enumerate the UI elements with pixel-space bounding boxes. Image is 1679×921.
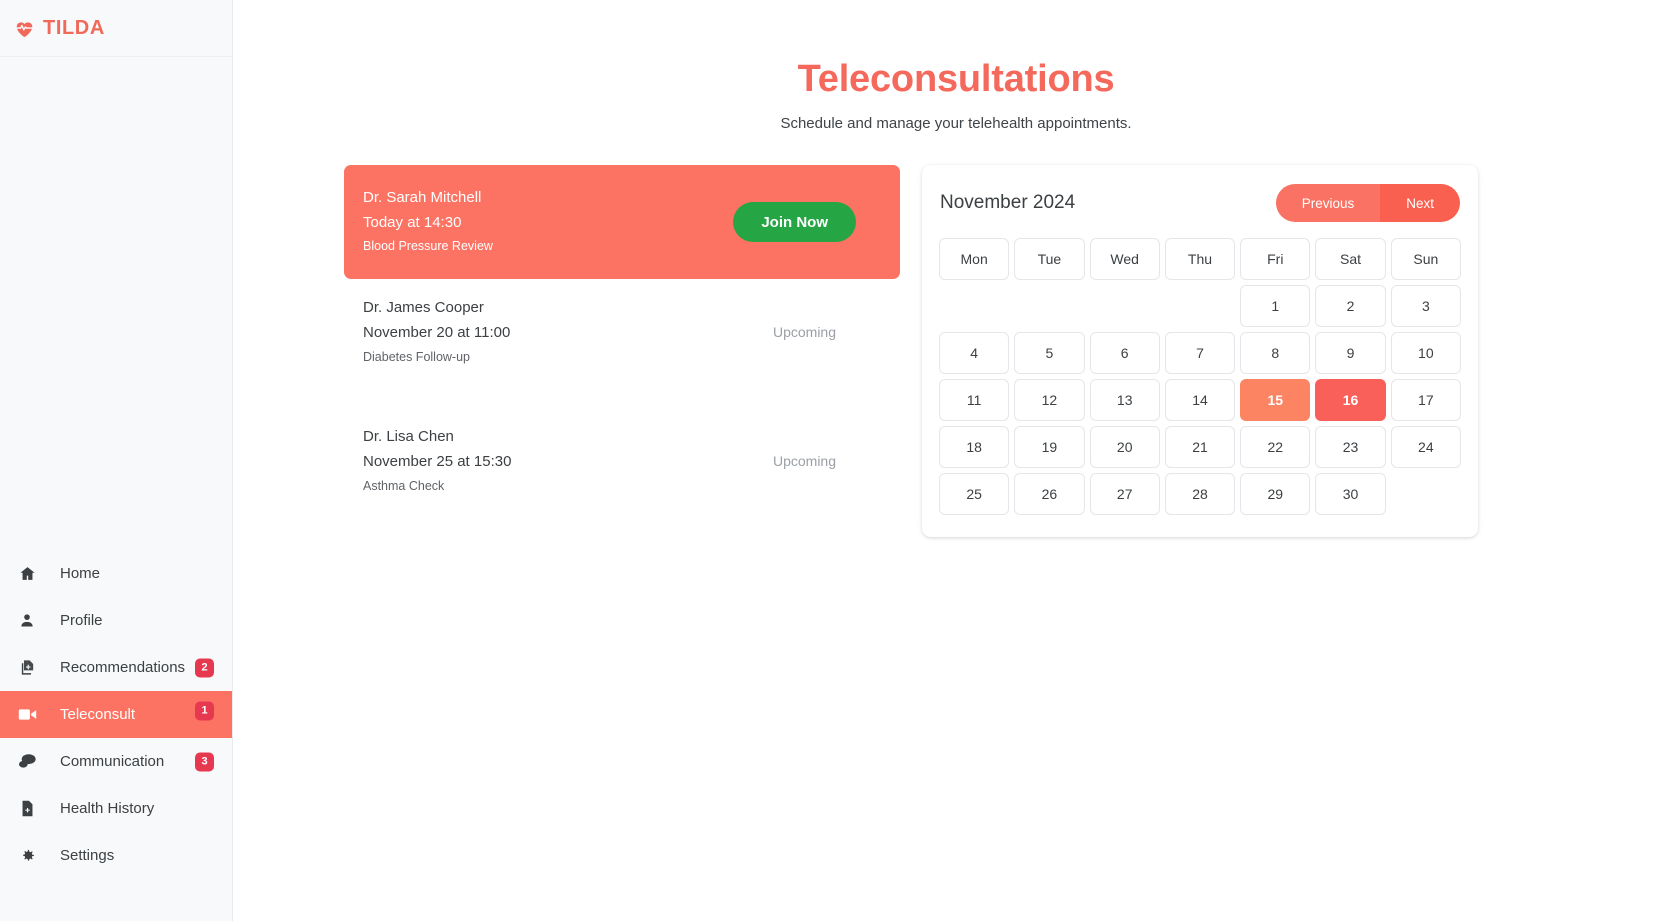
appointment-reason: Blood Pressure Review xyxy=(363,235,493,259)
calendar-card: November 2024 Previous Next MonTueWedThu… xyxy=(922,165,1478,537)
appointment-doctor: Dr. James Cooper xyxy=(363,295,510,320)
sidebar-badge: 1 xyxy=(195,701,214,720)
calendar-day-cell[interactable]: 18 xyxy=(939,426,1009,468)
appointment-row[interactable]: Dr. Lisa Chen November 25 at 15:30 Asthm… xyxy=(344,408,900,512)
calendar-day-cell[interactable]: 14 xyxy=(1165,379,1235,421)
calendar-day-cell[interactable]: 23 xyxy=(1315,426,1385,468)
calendar-day-cell[interactable]: 24 xyxy=(1391,426,1461,468)
appointment-reason: Diabetes Follow-up xyxy=(363,346,510,370)
brand-name: TILDA xyxy=(43,17,105,40)
sidebar-item-settings[interactable]: Settings xyxy=(0,832,232,879)
sidebar-item-label: Profile xyxy=(60,612,103,629)
sidebar-item-profile[interactable]: Profile xyxy=(0,597,232,644)
sidebar-item-recommendations[interactable]: Recommendations 2 xyxy=(0,644,232,691)
sidebar: TILDA Home Profile Recommendatio xyxy=(0,0,233,921)
appointment-datetime: November 20 at 11:00 xyxy=(363,320,510,345)
calendar-weekday-header: Mon xyxy=(939,238,1009,280)
add-document-icon xyxy=(16,659,38,676)
heart-pulse-icon xyxy=(14,19,35,38)
page-title: Teleconsultations xyxy=(233,58,1679,101)
appointment-doctor: Dr. Sarah Mitchell xyxy=(363,185,493,210)
calendar-day-cell[interactable]: 15 xyxy=(1240,379,1310,421)
brand: TILDA xyxy=(0,0,232,57)
appointment-info: Dr. Sarah Mitchell Today at 14:30 Blood … xyxy=(363,185,493,259)
calendar-day-cell[interactable]: 10 xyxy=(1391,332,1461,374)
calendar-grid: MonTueWedThuFriSatSun1234567891011121314… xyxy=(939,238,1461,515)
sidebar-item-label: Settings xyxy=(60,847,114,864)
calendar-day-cell[interactable]: 3 xyxy=(1391,285,1461,327)
calendar-previous-button[interactable]: Previous xyxy=(1276,184,1381,222)
calendar-next-button[interactable]: Next xyxy=(1380,184,1460,222)
status-badge: Upcoming xyxy=(773,324,836,340)
video-camera-icon xyxy=(16,707,38,722)
sidebar-item-label: Recommendations xyxy=(60,659,185,676)
calendar-day-cell[interactable]: 6 xyxy=(1090,332,1160,374)
calendar-day-cell[interactable]: 20 xyxy=(1090,426,1160,468)
medical-file-icon xyxy=(16,800,38,817)
sidebar-item-label: Teleconsult xyxy=(60,706,135,723)
calendar-empty-cell xyxy=(1165,285,1235,327)
calendar-day-cell[interactable]: 17 xyxy=(1391,379,1461,421)
sidebar-badge: 2 xyxy=(195,658,214,677)
calendar-day-cell[interactable]: 27 xyxy=(1090,473,1160,515)
calendar-day-cell[interactable]: 12 xyxy=(1014,379,1084,421)
sidebar-spacer xyxy=(0,57,232,550)
status-badge: Upcoming xyxy=(773,453,836,469)
sidebar-badge: 3 xyxy=(195,752,214,771)
main-content: Teleconsultations Schedule and manage yo… xyxy=(233,0,1679,921)
chat-bubbles-icon xyxy=(16,753,38,770)
calendar-empty-cell xyxy=(1014,285,1084,327)
sidebar-item-home[interactable]: Home xyxy=(0,550,232,597)
sidebar-item-health-history[interactable]: Health History xyxy=(0,785,232,832)
calendar-day-cell[interactable]: 1 xyxy=(1240,285,1310,327)
calendar-day-cell[interactable]: 5 xyxy=(1014,332,1084,374)
sidebar-item-communication[interactable]: Communication 3 xyxy=(0,738,232,785)
calendar-day-cell[interactable]: 29 xyxy=(1240,473,1310,515)
appointment-row[interactable]: Dr. James Cooper November 20 at 11:00 Di… xyxy=(344,279,900,383)
calendar-weekday-header: Tue xyxy=(1014,238,1084,280)
appointment-row-featured[interactable]: Dr. Sarah Mitchell Today at 14:30 Blood … xyxy=(344,165,900,279)
calendar-weekday-header: Sat xyxy=(1315,238,1385,280)
calendar-empty-cell xyxy=(1391,473,1461,515)
calendar-day-cell[interactable]: 9 xyxy=(1315,332,1385,374)
home-icon xyxy=(16,565,38,582)
appointment-info: Dr. James Cooper November 20 at 11:00 Di… xyxy=(363,295,510,369)
appointment-reason: Asthma Check xyxy=(363,475,511,499)
calendar-day-cell[interactable]: 30 xyxy=(1315,473,1385,515)
calendar-day-cell[interactable]: 2 xyxy=(1315,285,1385,327)
appointment-datetime: November 25 at 15:30 xyxy=(363,449,511,474)
join-now-button[interactable]: Join Now xyxy=(733,202,856,242)
calendar-day-cell[interactable]: 4 xyxy=(939,332,1009,374)
sidebar-item-label: Health History xyxy=(60,800,154,817)
calendar-empty-cell xyxy=(939,285,1009,327)
content-columns: Dr. Sarah Mitchell Today at 14:30 Blood … xyxy=(233,165,1679,537)
sidebar-item-label: Home xyxy=(60,565,100,582)
calendar-weekday-header: Sun xyxy=(1391,238,1461,280)
calendar-day-cell[interactable]: 26 xyxy=(1014,473,1084,515)
gear-icon xyxy=(16,847,38,864)
calendar-month-label: November 2024 xyxy=(940,192,1075,214)
calendar-weekday-header: Thu xyxy=(1165,238,1235,280)
calendar-weekday-header: Fri xyxy=(1240,238,1310,280)
calendar-day-cell[interactable]: 19 xyxy=(1014,426,1084,468)
calendar-empty-cell xyxy=(1090,285,1160,327)
sidebar-nav: Home Profile Recommendations 2 T xyxy=(0,550,232,921)
calendar-day-cell[interactable]: 21 xyxy=(1165,426,1235,468)
appointments-list: Dr. Sarah Mitchell Today at 14:30 Blood … xyxy=(344,165,900,512)
calendar-day-cell[interactable]: 22 xyxy=(1240,426,1310,468)
calendar-day-cell[interactable]: 25 xyxy=(939,473,1009,515)
calendar-day-cell[interactable]: 11 xyxy=(939,379,1009,421)
calendar-day-cell[interactable]: 16 xyxy=(1315,379,1385,421)
calendar-day-cell[interactable]: 7 xyxy=(1165,332,1235,374)
calendar-header: November 2024 Previous Next xyxy=(939,184,1461,222)
person-icon xyxy=(16,612,38,629)
appointment-info: Dr. Lisa Chen November 25 at 15:30 Asthm… xyxy=(363,424,511,498)
appointment-doctor: Dr. Lisa Chen xyxy=(363,424,511,449)
calendar-day-cell[interactable]: 8 xyxy=(1240,332,1310,374)
sidebar-item-label: Communication xyxy=(60,753,164,770)
page-header: Teleconsultations Schedule and manage yo… xyxy=(233,0,1679,132)
calendar-weekday-header: Wed xyxy=(1090,238,1160,280)
calendar-day-cell[interactable]: 28 xyxy=(1165,473,1235,515)
sidebar-item-teleconsult[interactable]: Teleconsult 1 xyxy=(0,691,232,738)
appointment-datetime: Today at 14:30 xyxy=(363,210,493,235)
calendar-nav: Previous Next xyxy=(1276,184,1460,222)
page-subtitle: Schedule and manage your telehealth appo… xyxy=(233,115,1679,132)
calendar-day-cell[interactable]: 13 xyxy=(1090,379,1160,421)
